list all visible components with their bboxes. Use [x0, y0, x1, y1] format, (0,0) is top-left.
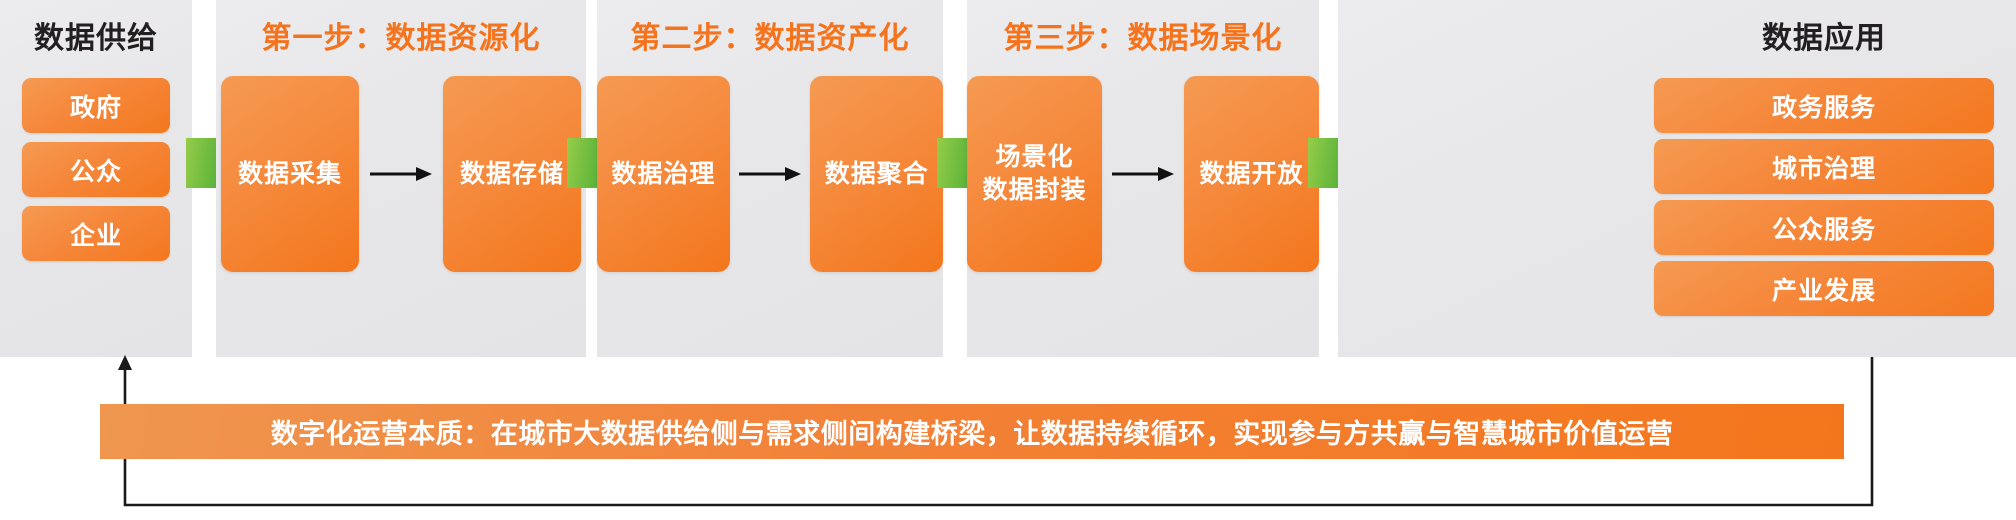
step-3-card-row: 场景化 数据封装 数据开放	[967, 76, 1319, 272]
right-arrow-icon-step-3	[1102, 76, 1184, 272]
card-scenario-data-packaging[interactable]: 场景化 数据封装	[967, 76, 1102, 272]
list-item-public[interactable]: 公众	[22, 142, 170, 197]
panel-title-data-supply: 数据供给	[0, 22, 192, 55]
list-item-enterprise[interactable]: 企业	[22, 206, 170, 261]
process-flow-row: 数据供给 政府 公众 企业 第一步：数据资源化 数据采集	[0, 0, 2016, 357]
card-data-storage[interactable]: 数据存储	[443, 76, 581, 272]
panel-title-data-application: 数据应用	[1654, 22, 1994, 55]
step-2-card-row: 数据治理 数据聚合	[597, 76, 943, 272]
right-arrow-icon-step-2	[730, 76, 811, 272]
summary-banner: 数字化运营本质：在城市大数据供给侧与需求侧间构建桥梁，让数据持续循环，实现参与方…	[100, 404, 1844, 459]
list-item-industry-development[interactable]: 产业发展	[1654, 261, 1994, 316]
panel-data-application: 数据应用 政务服务 城市治理 公众服务 产业发展	[1338, 0, 2016, 357]
list-item-public-services[interactable]: 公众服务	[1654, 200, 1994, 255]
panel-step-1: 第一步：数据资源化 数据采集 数据存储	[216, 0, 586, 357]
panel-step-3: 第三步：数据场景化 场景化 数据封装 数据开放	[967, 0, 1319, 357]
card-data-collection[interactable]: 数据采集	[221, 76, 359, 272]
step-1-card-row: 数据采集 数据存储	[216, 76, 586, 272]
panel-title-step-2: 第二步：数据资产化	[597, 22, 943, 55]
list-item-government[interactable]: 政府	[22, 78, 170, 133]
panel-data-supply: 数据供给 政府 公众 企业	[0, 0, 192, 357]
card-data-opening[interactable]: 数据开放	[1184, 76, 1319, 272]
list-item-government-services[interactable]: 政务服务	[1654, 78, 1994, 133]
panel-step-2: 第二步：数据资产化 数据治理 数据聚合	[597, 0, 943, 357]
list-item-urban-governance[interactable]: 城市治理	[1654, 139, 1994, 194]
supply-pill-stack: 政府 公众 企业	[22, 78, 170, 261]
summary-banner-text: 数字化运营本质：在城市大数据供给侧与需求侧间构建桥梁，让数据持续循环，实现参与方…	[271, 412, 1674, 451]
card-data-governance[interactable]: 数据治理	[597, 76, 730, 272]
right-arrow-icon-step-1	[359, 76, 443, 272]
application-pill-stack: 政务服务 城市治理 公众服务 产业发展	[1654, 78, 1994, 316]
card-data-aggregation[interactable]: 数据聚合	[810, 76, 943, 272]
panel-title-step-1: 第一步：数据资源化	[216, 22, 586, 55]
panel-title-step-3: 第三步：数据场景化	[967, 22, 1319, 55]
